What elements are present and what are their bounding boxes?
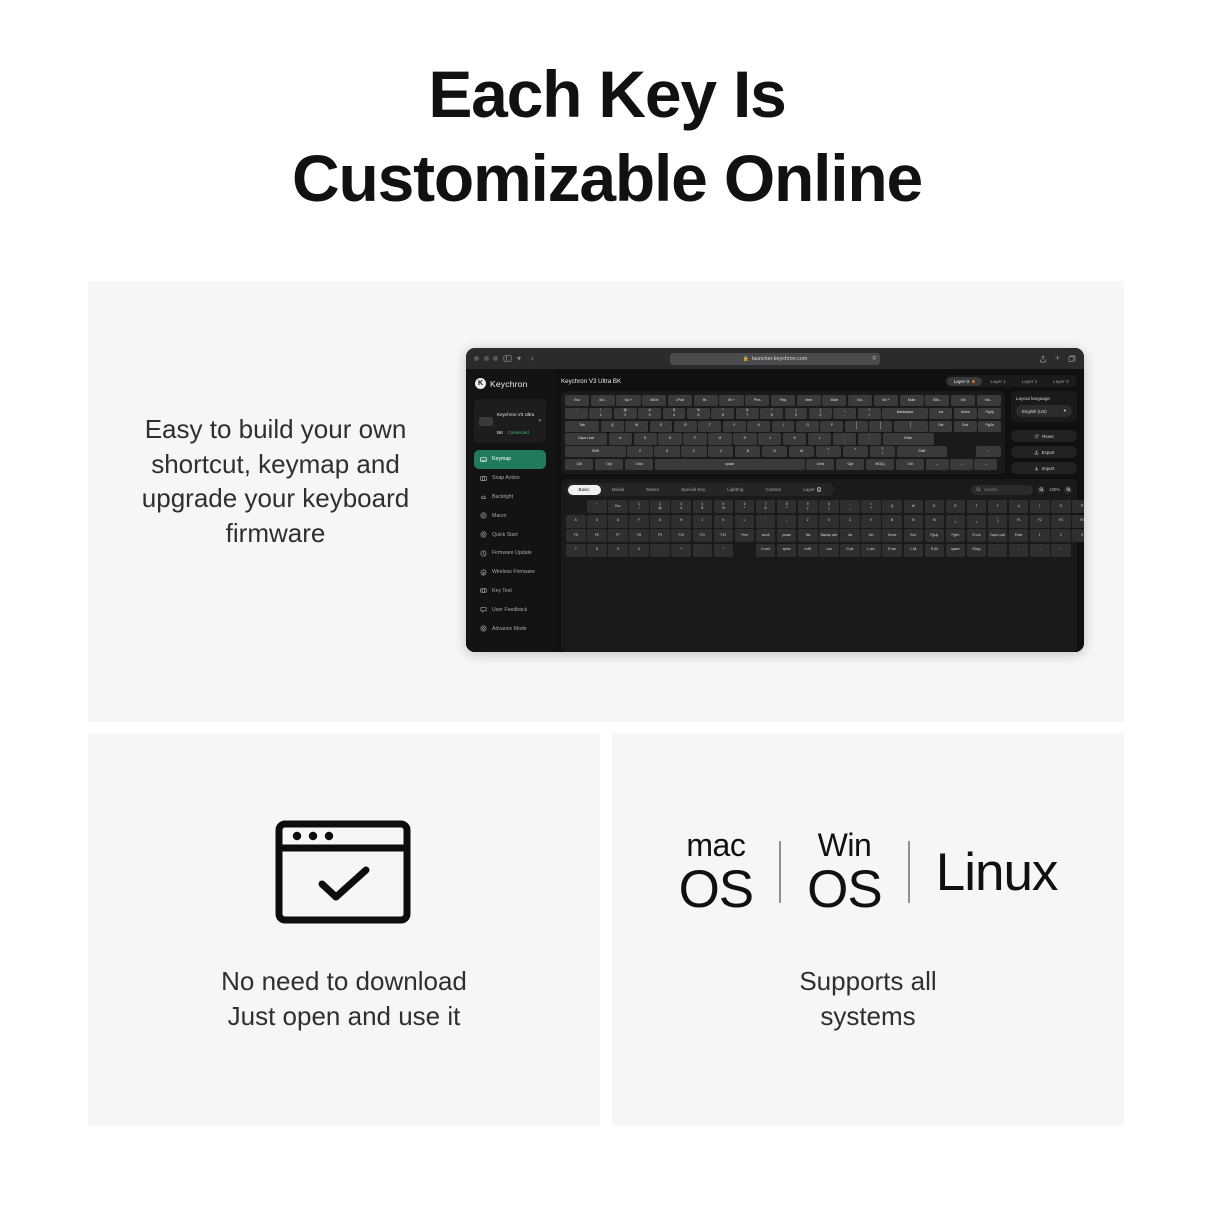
key-legend: ; <box>844 439 845 443</box>
snap-action-icon <box>480 475 487 482</box>
palette-key[interactable]: 3 <box>1072 529 1084 542</box>
palette-key[interactable]: Backsp ace <box>819 529 839 542</box>
keyboard-key[interactable]: ^6 <box>711 408 734 419</box>
keyboard-key[interactable]: Siri <box>951 395 975 406</box>
key-legend: Esc <box>574 399 580 403</box>
palette-key[interactable]: End <box>904 529 924 542</box>
key-legend: H <box>680 519 682 523</box>
keyboard-key[interactable]: Backspace <box>882 408 928 419</box>
sidebar-item-label: Keymap <box>492 456 511 462</box>
keyboard-key[interactable]: E <box>650 421 673 432</box>
keyboard-map[interactable]: EscScr -Scr +MCtrlLPadBr -Br +PrvsPlayNe… <box>561 391 1005 474</box>
palette-key[interactable]: pause <box>777 529 797 542</box>
key-legend: K <box>794 437 796 441</box>
keyboard-key[interactable]: W <box>625 421 648 432</box>
keyboard-key[interactable]: ↑ <box>976 446 1001 457</box>
palette-key[interactable]: F5 <box>566 529 586 542</box>
address-bar[interactable]: 🔒 launcher.keychron.com ⛨ <box>670 353 880 365</box>
keyboard-key[interactable]: Q <box>601 421 624 432</box>
palette-key[interactable]: F8 <box>629 529 649 542</box>
keyboard-key[interactable]: Cmd <box>806 459 834 470</box>
palette-key[interactable]: T <box>967 500 987 513</box>
keyboard-key[interactable]: "' <box>858 433 881 444</box>
keyboard-key[interactable]: H <box>733 433 756 444</box>
device-thumbnail-icon <box>479 417 493 426</box>
os-linux-label: Linux <box>936 846 1058 899</box>
key-legend: U <box>1018 505 1020 509</box>
key-legend: L <box>744 519 746 523</box>
chevron-down-icon[interactable]: ▾ <box>538 418 541 424</box>
key-legend: E <box>933 505 935 509</box>
sidebar-item-wireless-firmware[interactable]: Wireless Firmware <box>474 563 546 582</box>
palette-key[interactable]: F4 <box>1072 515 1084 528</box>
zoom-in-icon[interactable] <box>1064 486 1072 494</box>
keyboard-key[interactable]: End <box>954 421 977 432</box>
palette-key[interactable]: F12 <box>714 529 734 542</box>
keyboard-key[interactable]: F <box>683 433 706 444</box>
key-legend: C <box>849 519 851 523</box>
palette-tab-label: Lighting <box>727 487 743 492</box>
sidebar-item-label: Macro <box>492 513 506 519</box>
palette-key[interactable]: A <box>566 515 586 528</box>
palette-key[interactable]: Z <box>798 515 818 528</box>
sidebar-toggle-icon[interactable] <box>503 354 512 363</box>
key-legend: T <box>976 505 978 509</box>
keyboard-key[interactable]: Del <box>929 421 952 432</box>
keyboard-key[interactable]: X <box>654 446 679 457</box>
key-legend: Home <box>888 534 897 538</box>
palette-key[interactable]: J <box>693 515 713 528</box>
keyboard-key[interactable]: Mute <box>822 395 846 406</box>
palette-key[interactable]: R <box>946 500 966 513</box>
keyboard-key[interactable]: A <box>609 433 632 444</box>
palette-key[interactable]: X <box>819 515 839 528</box>
palette-key[interactable]: ↓ <box>1009 544 1029 557</box>
palette-spacer <box>735 544 755 557</box>
chevron-down-icon[interactable]: ▾ <box>517 355 521 363</box>
keyboard-key[interactable]: Y <box>723 421 746 432</box>
key-legend: Scr + <box>625 399 633 403</box>
keyboard-key[interactable]: SSh... <box>925 395 949 406</box>
palette-key[interactable]: 4$ <box>693 500 713 513</box>
keyboard-key[interactable]: N <box>762 446 787 457</box>
key-legend: F <box>638 519 640 523</box>
key-legend: % <box>722 507 725 511</box>
keyboard-key[interactable]: @2 <box>614 408 637 419</box>
palette-key[interactable]: I <box>1030 500 1050 513</box>
import-button[interactable]: Import <box>1011 462 1077 474</box>
share-icon[interactable] <box>1039 355 1047 363</box>
palette-key[interactable]: /? <box>988 515 1008 528</box>
keyboard-key[interactable]: I <box>772 421 795 432</box>
keyboard-key[interactable]: Cmd <box>625 459 653 470</box>
palette-key[interactable]: F10 <box>671 529 691 542</box>
keyboard-key[interactable]: R <box>674 421 697 432</box>
keyboard-key[interactable]: S <box>634 433 657 444</box>
keyboard-row: Caps LockASDFGHJKL:;"'Enter <box>565 433 1001 444</box>
palette-key[interactable]: N <box>904 515 924 528</box>
palette-key[interactable]: N prt <box>840 544 860 557</box>
keyboard-key[interactable]: Z <box>627 446 652 457</box>
palette-key[interactable]: 7& <box>756 500 776 513</box>
key-legend: Z <box>807 519 809 523</box>
keyboard-key[interactable]: Shift <box>897 446 948 457</box>
palette-key[interactable]: L Alt <box>904 544 924 557</box>
palette-key[interactable]: N Lck <box>967 529 987 542</box>
key-legend: ↓ <box>961 463 963 467</box>
layout-language-select[interactable]: English (US) ▾ <box>1016 405 1072 417</box>
palette-key[interactable]: O <box>1051 500 1071 513</box>
keyboard-key[interactable]: !1 <box>589 408 612 419</box>
palette-key[interactable]: Caps Lock <box>988 529 1008 542</box>
palette-key[interactable]: Home <box>882 529 902 542</box>
os-macos: mac OS <box>679 829 754 916</box>
sidebar-item-firmware-update[interactable]: Firmware Update <box>474 544 546 563</box>
palette-key[interactable]: F3 <box>1051 515 1071 528</box>
key-legend: Mute <box>831 399 839 403</box>
palette-key[interactable]: Lsct <box>819 544 839 557</box>
lock-icon: 🔒 <box>743 356 749 362</box>
keyboard-key[interactable]: {[ <box>845 421 868 432</box>
keyboard-key[interactable]: ?/ <box>870 446 895 457</box>
keyboard-spacer <box>999 459 1001 470</box>
palette-tab-layer[interactable]: Layeri <box>792 485 832 495</box>
keyboard-key[interactable]: Shift <box>565 446 626 457</box>
palette-key[interactable]: Tab <box>798 529 818 542</box>
palette-key[interactable]: F1 <box>1009 515 1029 528</box>
key-legend: A <box>575 519 577 523</box>
key-legend: Prvs <box>754 399 761 403</box>
keyboard-key[interactable]: $4 <box>663 408 686 419</box>
keyboard-key[interactable]: Vol + <box>874 395 898 406</box>
key-legend: G <box>719 437 722 441</box>
keyboard-key[interactable]: O <box>796 421 819 432</box>
palette-key[interactable]: D <box>608 515 628 528</box>
palette-key[interactable]: M <box>925 515 945 528</box>
keyboard-key[interactable]: C <box>681 446 706 457</box>
key-legend: [ <box>856 426 857 430</box>
palette-key[interactable]: 8* <box>777 500 797 513</box>
palette-key[interactable]: 9 <box>608 544 628 557</box>
palette-key[interactable]: 6^ <box>735 500 755 513</box>
keyboard-key[interactable]: D <box>658 433 681 444</box>
palette-key[interactable]: 1 <box>1030 529 1050 542</box>
palette-key[interactable]: F6 <box>587 529 607 542</box>
palette-tab-lighting[interactable]: Lighting <box>716 485 754 495</box>
key-legend: Enter <box>904 437 912 441</box>
sidebar-item-user-feedback[interactable]: User Feedback <box>474 600 546 619</box>
palette-key[interactable]: H <box>671 515 691 528</box>
palette-key[interactable]: RApp <box>967 544 987 557</box>
keyboard-key[interactable]: T <box>698 421 721 432</box>
palette-key[interactable]: U <box>1009 500 1029 513</box>
keyboard-key[interactable]: MO(1) <box>866 459 894 470</box>
browser-titlebar: ▾ ‹ 🔒 launcher.keychron.com ⛨ + <box>466 348 1084 369</box>
info-icon[interactable]: i <box>817 487 822 492</box>
keyboard-key[interactable]: Mo... <box>977 395 1001 406</box>
keyboard-key[interactable]: %5 <box>687 408 710 419</box>
keyboard-key[interactable]: Br - <box>694 395 718 406</box>
plus-icon[interactable]: + <box>1055 354 1060 363</box>
layer-tab-2[interactable]: Layer 2 <box>1015 377 1044 386</box>
keyboard-key[interactable]: Play <box>771 395 795 406</box>
key-legend: F8 <box>637 534 641 538</box>
key-legend: Br + <box>728 399 734 403</box>
palette-key[interactable]: . <box>650 544 670 557</box>
palette-key[interactable]: 0) <box>819 500 839 513</box>
key-legend: 3 <box>649 414 651 418</box>
palette-tab-special-key[interactable]: Special Key <box>670 485 716 495</box>
keyboard-key[interactable]: Tab <box>565 421 599 432</box>
palette-key[interactable]: G <box>650 515 670 528</box>
palette-key[interactable]: -_ <box>840 500 860 513</box>
palette-key[interactable]: 2 <box>1051 529 1071 542</box>
key-legend: J <box>769 437 771 441</box>
palette-key[interactable]: + <box>671 544 691 557</box>
palette-tab-custom[interactable]: Custom <box>754 485 792 495</box>
palette-key[interactable]: 3# <box>671 500 691 513</box>
palette-tab-basic[interactable]: Basic <box>568 485 601 495</box>
palette-key[interactable]: Esc <box>608 500 628 513</box>
palette-key[interactable]: R Alt <box>925 544 945 557</box>
palette-key[interactable]: S <box>587 515 607 528</box>
keyboard-row: TabQWERTYUIOP{[}]|\DelEndPgDn <box>565 421 1001 432</box>
key-legend: Lsct <box>826 548 832 552</box>
layer-tabs: Layer 0Layer 1Layer 2Layer 3 <box>945 375 1077 387</box>
palette-row: F5F6F7F8F9F10F11F12PrintscrollpauseTabBa… <box>566 529 1072 542</box>
sidebar-item-macro[interactable]: Macro <box>474 506 546 525</box>
key-legend: ! <box>639 507 640 511</box>
key-legend: U <box>757 424 759 428</box>
keyboard-key[interactable]: LPad <box>668 395 692 406</box>
keyboard-key[interactable]: Opt <box>595 459 623 470</box>
palette-key[interactable]: spdm <box>777 544 797 557</box>
palette-key[interactable]: F9 <box>650 529 670 542</box>
keyboard-key[interactable]: Opt <box>836 459 864 470</box>
key-legend: End <box>910 534 916 538</box>
keyboard-spacer <box>936 433 1001 444</box>
keyboard-key[interactable]: Ctrl <box>565 459 593 470</box>
keyboard-key[interactable]: &7 <box>736 408 759 419</box>
palette-key[interactable]: W <box>904 500 924 513</box>
keyboard-key[interactable]: PgDn <box>978 421 1001 432</box>
search-placeholder: Search <box>984 487 997 492</box>
sidebar-item-quick-start[interactable]: Quick Start <box>474 525 546 544</box>
keyboard-key[interactable]: }] <box>869 421 892 432</box>
sidebar-item-backlight[interactable]: Backlight <box>474 488 546 507</box>
keyboard-key[interactable]: M <box>789 446 814 457</box>
keyboard-key[interactable]: → <box>974 459 997 470</box>
palette-key[interactable]: F2 <box>1030 515 1050 528</box>
keyboard-key[interactable]: Next <box>797 395 821 406</box>
keyboard-key[interactable]: *8 <box>760 408 783 419</box>
device-meta: Keychron V3 Ultra BK Connected <box>497 403 534 439</box>
key-legend: Cmd <box>635 463 642 467</box>
palette-key[interactable]: 7 <box>566 544 586 557</box>
keyboard-key[interactable]: ← <box>926 459 949 470</box>
keyboard-key[interactable]: Ctrl <box>896 459 924 470</box>
keyboard-key[interactable]: |\ <box>894 421 928 432</box>
palette-key[interactable]: 8 <box>587 544 607 557</box>
palette-key[interactable]: - <box>693 544 713 557</box>
export-button[interactable]: Export <box>1011 446 1077 458</box>
keyboard-key[interactable]: V <box>708 446 733 457</box>
palette-tab-macro[interactable]: Macro <box>635 485 670 495</box>
palette-key[interactable]: C <box>840 515 860 528</box>
key-legend: Enter <box>1015 534 1023 538</box>
keyboard-key[interactable]: G <box>708 433 731 444</box>
key-legend: * <box>723 548 724 552</box>
keyboard-key[interactable]: <, <box>816 446 841 457</box>
key-legend: Del <box>869 534 874 538</box>
keyboard-row: EscScr -Scr +MCtrlLPadBr -Br +PrvsPlayNe… <box>565 395 1001 406</box>
keyboard-key[interactable]: (9 <box>785 408 808 419</box>
palette-key[interactable]: F11 <box>693 529 713 542</box>
key-legend: Mo... <box>985 399 993 403</box>
key-legend: Ins <box>848 534 852 538</box>
palette-key[interactable]: Y <box>988 500 1008 513</box>
keyboard-key[interactable]: ~` <box>565 408 588 419</box>
key-legend: S <box>596 519 598 523</box>
palette-key[interactable]: 9( <box>798 500 818 513</box>
key-legend: E <box>660 424 662 428</box>
palette-key[interactable]: ,< <box>946 515 966 528</box>
key-legend: MCtrl <box>650 399 658 403</box>
palette-tab-media[interactable]: Media <box>601 485 636 495</box>
feature-card-no-download <box>88 733 600 1126</box>
page-title-line-2: Customizable Online <box>0 136 1214 220</box>
keyboard-key[interactable]: MCtrl <box>642 395 666 406</box>
keyboard-key[interactable]: #3 <box>638 408 661 419</box>
keyboard-key[interactable]: Prvs <box>745 395 769 406</box>
palette-key[interactable]: ← <box>988 544 1008 557</box>
browser-check-icon <box>274 818 412 926</box>
layout-language-value: English (US) <box>1022 409 1047 414</box>
palette-key[interactable]: R win <box>882 544 902 557</box>
palette-key[interactable]: L win <box>861 544 881 557</box>
palette-key[interactable]: ↑ <box>1051 544 1071 557</box>
layer-tab-1[interactable]: Layer 1 <box>984 377 1013 386</box>
palette-key[interactable]: V <box>861 515 881 528</box>
palette-key[interactable]: F7 <box>608 529 628 542</box>
palette-key[interactable]: L <box>735 515 755 528</box>
key-legend: PgUp <box>930 534 938 538</box>
keyboard-key[interactable]: P <box>820 421 843 432</box>
palette-key[interactable]: E <box>925 500 945 513</box>
keyboard-key[interactable]: Enter <box>883 433 934 444</box>
palette-key[interactable]: Ins <box>840 529 860 542</box>
search-input[interactable]: Search <box>971 485 1033 495</box>
palette-key[interactable]: Q <box>882 500 902 513</box>
palette-key[interactable]: Enter <box>1009 529 1029 542</box>
palette-key[interactable]: PgUp <box>925 529 945 542</box>
palette-key[interactable]: scroll <box>756 529 776 542</box>
key-legend: : <box>765 521 766 525</box>
key-legend: 0 <box>820 414 822 418</box>
palette-key[interactable]: =+ <box>861 500 881 513</box>
keyboard-key[interactable]: )0 <box>809 408 832 419</box>
key-legend: F9 <box>658 534 662 538</box>
keyboard-key[interactable]: K <box>783 433 806 444</box>
window-traffic-lights[interactable] <box>474 356 498 361</box>
keyboard-key[interactable]: Caps Lock <box>565 433 607 444</box>
palette-key[interactable]: '" <box>777 515 797 528</box>
palette-key[interactable]: K <box>714 515 734 528</box>
palette-key[interactable]: nxtN <box>798 544 818 557</box>
key-legend: → <box>984 463 987 467</box>
key-legend: 7 <box>575 548 577 552</box>
palette-key[interactable]: 0 <box>629 544 649 557</box>
back-arrow-icon[interactable]: ‹ <box>531 354 534 363</box>
keyboard-key[interactable]: U <box>747 421 770 432</box>
tabs-icon[interactable] <box>1068 355 1076 363</box>
palette-key[interactable]: .> <box>967 515 987 528</box>
device-selector[interactable]: Keychron V3 Ultra BK Connected ▾ <box>474 399 546 443</box>
keyboard-key[interactable]: += <box>858 408 881 419</box>
palette-key[interactable]: B <box>882 515 902 528</box>
palette-key[interactable]: ~` <box>587 500 607 513</box>
key-legend: 9 <box>617 548 619 552</box>
sidebar-item-keymap[interactable]: Keymap <box>474 450 546 469</box>
card-left-caption-line-1: No need to download <box>88 964 600 999</box>
palette-key[interactable]: 2@ <box>650 500 670 513</box>
zoom-out-icon[interactable] <box>1037 486 1045 494</box>
keyboard-row: ~`!1@2#3$4%5^6&7*8(9)0_-+=BackspaceInsHo… <box>565 408 1001 419</box>
keyboard-key[interactable]: ↓ <box>950 459 973 470</box>
layer-tab-0[interactable]: Layer 0 <box>947 377 982 386</box>
keyboard-key[interactable]: Home <box>954 408 977 419</box>
palette-key[interactable]: 5% <box>714 500 734 513</box>
keyboard-key[interactable]: Esc <box>565 395 589 406</box>
keyboard-key[interactable]: Ins <box>929 408 952 419</box>
keyboard-key[interactable]: _- <box>833 408 856 419</box>
sidebar-item-snap-action[interactable]: Snap Action <box>474 469 546 488</box>
keyboard-key[interactable]: space <box>655 459 805 470</box>
keyboard-key[interactable]: L <box>808 433 831 444</box>
palette-key[interactable]: space <box>946 544 966 557</box>
keyboard-key[interactable]: Scr - <box>591 395 615 406</box>
keyboard-key[interactable]: PgUp <box>978 408 1001 419</box>
key-legend: ` <box>576 414 577 418</box>
palette-key[interactable]: F <box>629 515 649 528</box>
keyboard-key[interactable]: B <box>735 446 760 457</box>
keyboard-key[interactable]: Scr + <box>616 395 640 406</box>
shield-icon[interactable]: ⛨ <box>872 356 876 362</box>
palette-key[interactable]: ;: <box>756 515 776 528</box>
keyboard-key[interactable]: Br + <box>719 395 743 406</box>
keyboard-key[interactable]: Mute <box>900 395 924 406</box>
palette-key[interactable]: PgDn <box>946 529 966 542</box>
button-label: Export <box>1042 450 1055 455</box>
palette-key[interactable]: N unit <box>756 544 776 557</box>
keyboard-key[interactable]: Vol - <box>848 395 872 406</box>
layer-tab-3[interactable]: Layer 3 <box>1046 377 1075 386</box>
palette-key[interactable]: * <box>714 544 734 557</box>
keyboard-key[interactable]: >. <box>843 446 868 457</box>
card-right-caption: Supports all systems <box>612 964 1124 1034</box>
palette-key[interactable]: Print <box>735 529 755 542</box>
palette-key[interactable]: 1! <box>629 500 649 513</box>
sidebar-item-key-test[interactable]: Key Test <box>474 582 546 601</box>
reset-button[interactable]: Reset <box>1011 430 1077 442</box>
palette-key[interactable]: P <box>1072 500 1084 513</box>
sidebar-item-advance-mode[interactable]: Advance Mode <box>474 619 546 638</box>
palette-key[interactable]: Del <box>861 529 881 542</box>
keyboard-key[interactable]: :; <box>833 433 856 444</box>
keyboard-key[interactable]: J <box>758 433 781 444</box>
palette-key[interactable]: → <box>1030 544 1050 557</box>
key-legend: X <box>666 450 668 454</box>
